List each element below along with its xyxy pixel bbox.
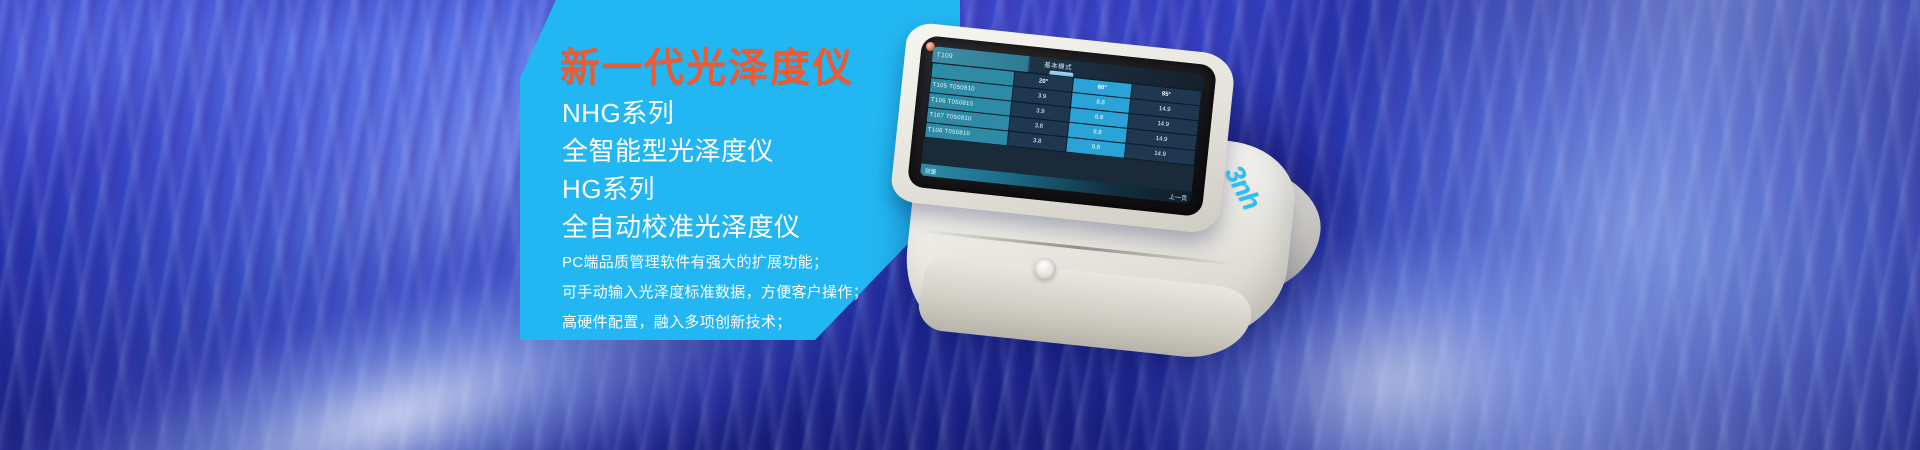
background-highlight	[1315, 0, 1920, 450]
banner-feature-2: 可手动输入光泽度标准数据，方便客户操作；	[562, 285, 868, 300]
banner-subtitle-3: HG系列	[562, 176, 655, 202]
banner-subtitle-4: 全自动校准光泽度仪	[562, 214, 801, 240]
status-measure-button[interactable]: 测量	[924, 165, 937, 175]
status-prev-page-button[interactable]: 上一页	[1169, 191, 1188, 202]
banner-subtitle-2: 全智能型光泽度仪	[562, 138, 774, 164]
banner-feature-1: PC端品质管理软件有强大的扩展功能；	[562, 255, 828, 270]
banner-headline: 新一代光泽度仪	[560, 48, 854, 88]
banner-feature-3: 高硬件配置，融入多项创新技术；	[562, 315, 792, 330]
banner-subtitle-1: NHG系列	[562, 100, 674, 126]
product-banner: 新一代光泽度仪 NHG系列 全智能型光泽度仪 HG系列 全自动校准光泽度仪 PC…	[0, 0, 1920, 450]
gloss-meter-device: T109 基本模式 10:51 2019.05.08 20° 60° 85° T…	[880, 20, 1340, 420]
screen-sample-id: T109	[936, 51, 953, 60]
